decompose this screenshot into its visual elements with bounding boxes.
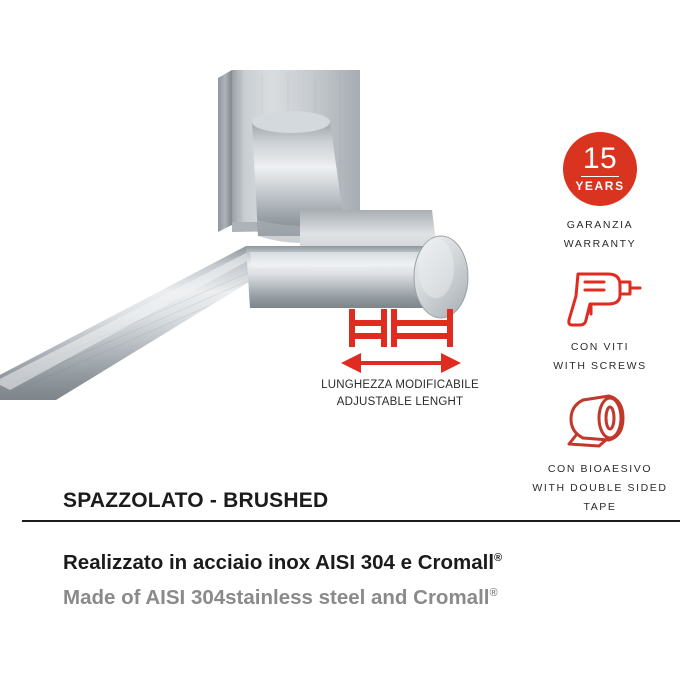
tape-caption-en-2: TAPE bbox=[512, 498, 688, 517]
material-description-it: Realizzato in acciaio inox AISI 304 e Cr… bbox=[63, 551, 502, 575]
tape-roll-icon bbox=[561, 390, 639, 452]
feature-tape: CON BIOAESIVO WITH DOUBLE SIDED TAPE bbox=[512, 390, 688, 517]
warranty-caption-en: WARRANTY bbox=[512, 235, 688, 254]
registered-mark-it: ® bbox=[494, 552, 502, 564]
warranty-number: 15 bbox=[583, 145, 617, 173]
warranty-caption-it: GARANZIA bbox=[512, 216, 688, 235]
material-text-it: Realizzato in acciaio inox AISI 304 e Cr… bbox=[63, 551, 494, 574]
adjustable-caption-it: LUNGHEZZA MODIFICABILE bbox=[300, 377, 500, 394]
material-text-en: Made of AISI 304stainless steel and Crom… bbox=[63, 586, 489, 609]
tape-caption-en-1: WITH DOUBLE SIDED bbox=[512, 479, 688, 498]
feature-warranty: 15 YEARS GARANZIA WARRANTY bbox=[512, 132, 688, 254]
registered-mark-en: ® bbox=[489, 587, 497, 599]
warranty-badge-icon: 15 YEARS bbox=[563, 132, 637, 206]
screws-caption-en: WITH SCREWS bbox=[512, 357, 688, 376]
feature-column: 15 YEARS GARANZIA WARRANTY CON VITI WI bbox=[512, 132, 688, 531]
warranty-divider bbox=[581, 176, 619, 177]
material-description-en: Made of AISI 304stainless steel and Crom… bbox=[63, 586, 498, 610]
finish-title: SPAZZOLATO - BRUSHED bbox=[63, 489, 328, 513]
adjustable-caption-en: ADJUSTABLE LENGHT bbox=[300, 394, 500, 411]
warranty-years-label: YEARS bbox=[575, 180, 624, 193]
title-divider bbox=[22, 520, 680, 522]
adjustable-length-icon bbox=[335, 305, 465, 377]
tape-caption-it: CON BIOAESIVO bbox=[512, 460, 688, 479]
product-info-page: LUNGHEZZA MODIFICABILE ADJUSTABLE LENGHT… bbox=[0, 0, 700, 700]
screws-caption-it: CON VITI bbox=[512, 338, 688, 357]
feature-adjustable-length: LUNGHEZZA MODIFICABILE ADJUSTABLE LENGHT bbox=[300, 305, 500, 411]
drill-icon bbox=[558, 268, 642, 330]
feature-screws: CON VITI WITH SCREWS bbox=[512, 268, 688, 376]
